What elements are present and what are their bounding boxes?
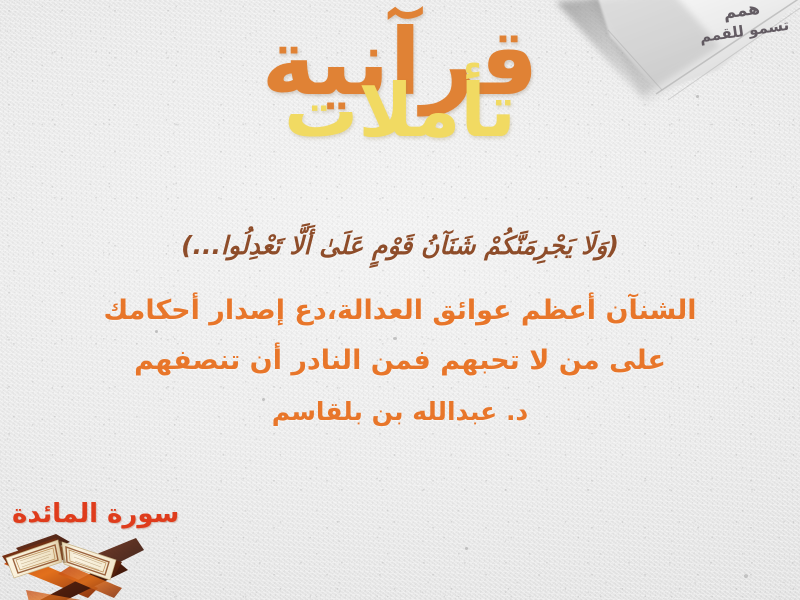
quran-verse: (وَلَا يَجْرِمَنَّكُمْ شَنَآنُ قَوْمٍ عَ… [0, 231, 800, 260]
open-quran-on-rehal-icon [0, 528, 146, 600]
author-name: د. عبدالله بن بلقاسم [0, 397, 800, 426]
reflection-line-2: على من لا تحبهم فمن النادر أن تنصفهم [0, 347, 800, 374]
title-block: قرآنية تأملات [0, 16, 800, 148]
surah-label: سورة المائدة [12, 499, 179, 529]
reflection-body: الشنآن أعظم عوائق العدالة،دع إصدار أحكام… [0, 297, 800, 426]
reflection-line-1: الشنآن أعظم عوائق العدالة،دع إصدار أحكام… [0, 297, 800, 324]
paper-fleck [744, 574, 748, 578]
paper-fleck [465, 547, 468, 550]
page-subtitle: تأملات [0, 74, 800, 148]
quranic-reflection-card: همم تسمو للقمم قرآنية تأملات (وَلَا يَجْ… [0, 0, 800, 600]
